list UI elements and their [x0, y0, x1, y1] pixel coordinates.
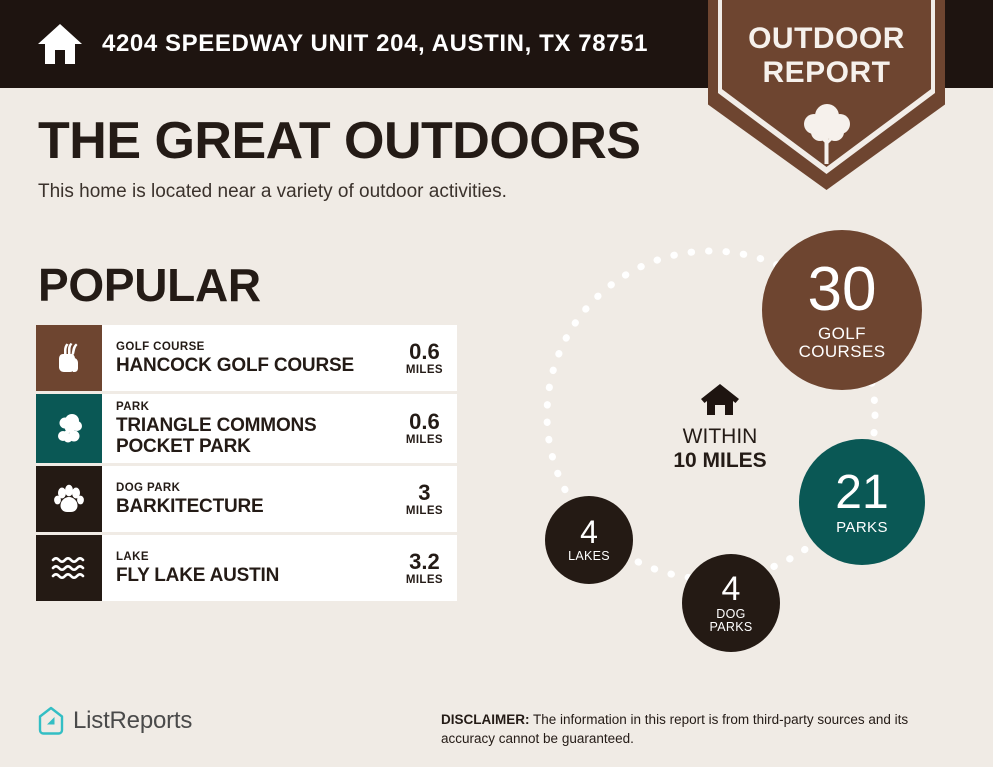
- poi-category: LAKE: [116, 550, 279, 565]
- poi-text: GOLF COURSE HANCOCK GOLF COURSE: [116, 340, 354, 376]
- list-item[interactable]: LAKE FLY LAKE AUSTIN 3.2 MILES: [36, 535, 457, 601]
- bubble-value: 21: [835, 469, 888, 517]
- poi-body: LAKE FLY LAKE AUSTIN 3.2 MILES: [102, 535, 457, 601]
- bubble-label-line2: PARKS: [710, 620, 753, 634]
- bubble-value: 4: [580, 516, 598, 548]
- poi-distance: 0.6 MILES: [398, 340, 457, 377]
- poi-distance: 3 MILES: [398, 481, 457, 518]
- bubble-label: DOG PARKS: [710, 608, 753, 634]
- poi-icon-tile: [36, 394, 102, 463]
- badge-title-line2: REPORT: [762, 56, 890, 89]
- poi-body: PARK TRIANGLE COMMONS POCKET PARK 0.6 MI…: [102, 394, 457, 463]
- badge-title-line1: OUTDOOR: [748, 22, 905, 55]
- bubble-label: PARKS: [836, 520, 888, 536]
- poi-body: DOG PARK BARKITECTURE 3 MILES: [102, 466, 457, 532]
- poi-text: PARK TRIANGLE COMMONS POCKET PARK: [116, 400, 398, 457]
- listreports-logo-text: ListReports: [73, 707, 192, 735]
- poi-icon-tile: [36, 535, 102, 601]
- bubble-parks[interactable]: 21 PARKS: [799, 439, 925, 565]
- poi-distance: 3.2 MILES: [398, 550, 457, 587]
- home-icon: [36, 20, 84, 68]
- poi-name: BARKITECTURE: [116, 496, 264, 517]
- bubble-value: 4: [722, 572, 741, 606]
- center-line-2: 10 MILES: [640, 449, 800, 473]
- page-subtitle: This home is located near a variety of o…: [38, 180, 698, 204]
- poi-distance-value: 3.2: [406, 550, 443, 573]
- poi-name: TRIANGLE COMMONS POCKET PARK: [116, 415, 398, 457]
- poi-text: LAKE FLY LAKE AUSTIN: [116, 550, 279, 586]
- poi-body: GOLF COURSE HANCOCK GOLF COURSE 0.6 MILE…: [102, 325, 457, 391]
- home-icon: [700, 382, 740, 418]
- list-item[interactable]: GOLF COURSE HANCOCK GOLF COURSE 0.6 MILE…: [36, 325, 457, 391]
- poi-name: HANCOCK GOLF COURSE: [116, 355, 354, 376]
- popular-poi-list: GOLF COURSE HANCOCK GOLF COURSE 0.6 MILE…: [36, 325, 457, 604]
- within-10-miles-bubble-chart: 30 GOLF COURSES 21 PARKS 4 DOG PARKS 4 L…: [520, 222, 970, 662]
- poi-category: PARK: [116, 400, 398, 415]
- property-address: 4204 SPEEDWAY UNIT 204, AUSTIN, TX 78751: [102, 30, 648, 58]
- poi-category: GOLF COURSE: [116, 340, 354, 355]
- disclaimer: DISCLAIMER: The information in this repo…: [441, 711, 941, 748]
- bubble-label-line1: GOLF: [818, 324, 866, 343]
- center-line-1: WITHIN: [640, 425, 800, 449]
- page-title: THE GREAT OUTDOORS: [38, 112, 698, 170]
- poi-category: DOG PARK: [116, 481, 264, 496]
- golf-bag-icon: [52, 341, 86, 375]
- list-item[interactable]: PARK TRIANGLE COMMONS POCKET PARK 0.6 MI…: [36, 394, 457, 463]
- poi-distance-value: 3: [406, 481, 443, 504]
- bubble-label: LAKES: [568, 550, 610, 563]
- poi-name: FLY LAKE AUSTIN: [116, 565, 279, 586]
- bubble-label-line1: DOG: [716, 607, 745, 621]
- badge-title: OUTDOOR REPORT: [708, 22, 945, 90]
- popular-section-heading: POPULAR: [38, 258, 261, 312]
- poi-icon-tile: [36, 466, 102, 532]
- bubble-golf-courses[interactable]: 30 GOLF COURSES: [762, 230, 922, 390]
- diagram-center-label: WITHIN 10 MILES: [640, 382, 800, 473]
- list-item[interactable]: DOG PARK BARKITECTURE 3 MILES: [36, 466, 457, 532]
- poi-distance-value: 0.6: [406, 410, 443, 433]
- trees-icon: [51, 411, 87, 447]
- waves-icon: [50, 553, 88, 583]
- poi-distance: 0.6 MILES: [398, 410, 457, 447]
- tree-icon: [799, 100, 855, 166]
- outdoor-report-badge: OUTDOOR REPORT: [708, 0, 945, 190]
- bubble-lakes[interactable]: 4 LAKES: [545, 496, 633, 584]
- bubble-label: GOLF COURSES: [799, 325, 886, 361]
- poi-distance-value: 0.6: [406, 340, 443, 363]
- title-block: THE GREAT OUTDOORS This home is located …: [38, 112, 698, 204]
- poi-text: DOG PARK BARKITECTURE: [116, 481, 264, 517]
- bubble-value: 30: [808, 259, 877, 321]
- bubble-label-line2: COURSES: [799, 342, 886, 361]
- listreports-logo[interactable]: ListReports: [38, 706, 192, 736]
- listreports-house-logo-icon: [38, 706, 64, 736]
- poi-icon-tile: [36, 325, 102, 391]
- poi-distance-unit: MILES: [406, 504, 443, 518]
- bubble-dog-parks[interactable]: 4 DOG PARKS: [682, 554, 780, 652]
- poi-distance-unit: MILES: [406, 573, 443, 587]
- disclaimer-label: DISCLAIMER:: [441, 712, 530, 727]
- poi-distance-unit: MILES: [406, 433, 443, 447]
- paw-print-icon: [52, 482, 86, 516]
- poi-distance-unit: MILES: [406, 363, 443, 377]
